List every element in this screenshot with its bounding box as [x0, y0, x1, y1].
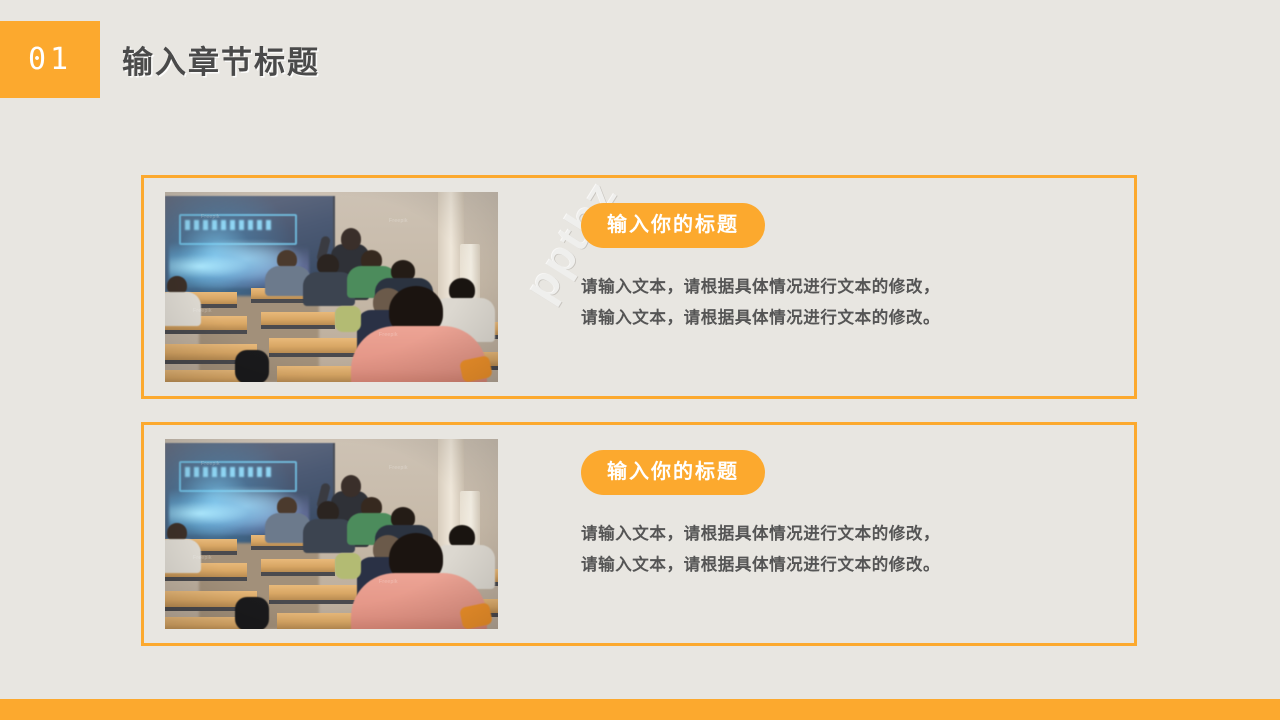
desk-row — [269, 585, 365, 604]
card-body-line: 请输入文本，请根据具体情况进行文本的修改， — [581, 272, 1134, 303]
projection-screen-text — [185, 467, 273, 477]
bag-olive — [335, 553, 361, 579]
chapter-number-text: 01 — [28, 45, 72, 75]
card-body-line: 请输入文本，请根据具体情况进行文本的修改。 — [581, 550, 1134, 581]
card-body-line: 请输入文本，请根据具体情况进行文本的修改， — [581, 519, 1134, 550]
slide-canvas: 01 输入章节标题 — [0, 0, 1280, 720]
card-body-line: 请输入文本，请根据具体情况进行文本的修改。 — [581, 303, 1134, 334]
backpack — [235, 597, 269, 629]
footer-accent-bar — [0, 699, 1280, 720]
slide-header: 01 输入章节标题 — [0, 21, 320, 98]
bag-olive — [335, 306, 361, 332]
backpack — [235, 350, 269, 382]
page-title: 输入章节标题 — [122, 21, 320, 98]
projection-screen-text — [185, 220, 273, 230]
card-body-text: 请输入文本，请根据具体情况进行文本的修改， 请输入文本，请根据具体情况进行文本的… — [581, 272, 1134, 333]
chapter-number-badge: 01 — [0, 21, 100, 98]
card-title-pill[interactable]: 输入你的标题 — [581, 450, 765, 495]
content-card: Freepik Freepik Freepik Freepik 输入你的标题 请… — [141, 175, 1137, 399]
presenter-head — [341, 228, 361, 250]
attendee-torso — [165, 292, 201, 326]
desk-row — [261, 559, 335, 576]
content-card: Freepik Freepik Freepik Freepik 输入你的标题 请… — [141, 422, 1137, 646]
presenter-head — [341, 475, 361, 497]
card-text-column: 输入你的标题 请输入文本，请根据具体情况进行文本的修改， 请输入文本，请根据具体… — [498, 178, 1134, 333]
card-title-pill[interactable]: 输入你的标题 — [581, 203, 765, 248]
lecture-hall-photo: Freepik Freepik Freepik Freepik — [165, 192, 498, 382]
card-body-text: 请输入文本，请根据具体情况进行文本的修改， 请输入文本，请根据具体情况进行文本的… — [581, 519, 1134, 580]
desk-row — [261, 312, 335, 329]
attendee-torso — [165, 539, 201, 573]
desk-row — [269, 338, 365, 357]
content-card-list: Freepik Freepik Freepik Freepik 输入你的标题 请… — [141, 175, 1137, 646]
card-text-column: 输入你的标题 请输入文本，请根据具体情况进行文本的修改， 请输入文本，请根据具体… — [498, 425, 1134, 580]
lecture-hall-photo: Freepik Freepik Freepik Freepik — [165, 439, 498, 629]
